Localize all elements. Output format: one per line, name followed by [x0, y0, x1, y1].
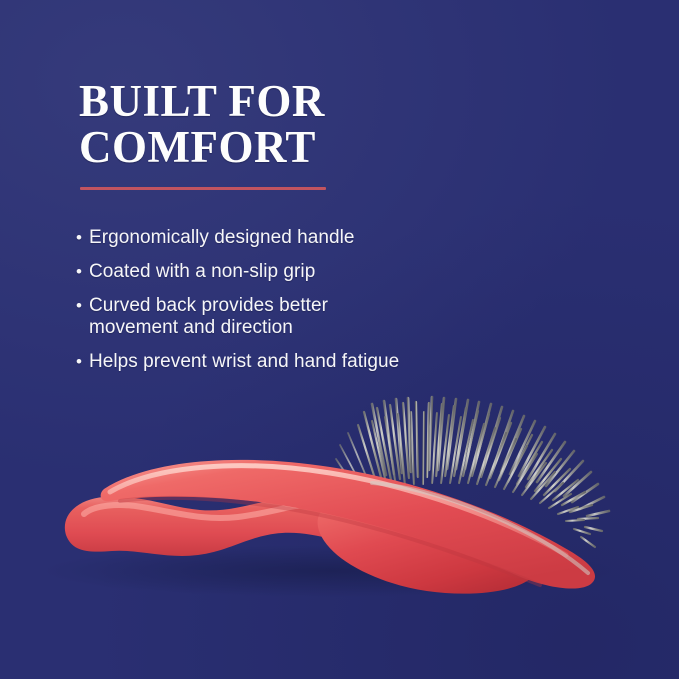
list-item: • Coated with a non-slip grip — [76, 261, 496, 283]
page-title-line-2: COMFORT — [79, 124, 499, 170]
list-item-label: Curved back provides better movement and… — [89, 295, 496, 339]
title-divider-rule — [80, 187, 326, 190]
list-item: • Ergonomically designed handle — [76, 227, 496, 249]
bullet-dot-icon: • — [76, 227, 89, 249]
list-item-label-line-2: movement and direction — [89, 317, 496, 339]
list-item-label-line-1: Curved back provides better — [89, 295, 328, 316]
list-item-label: Coated with a non-slip grip — [89, 261, 496, 283]
page-title: BUILT FOR COMFORT — [79, 78, 499, 170]
bullet-dot-icon: • — [76, 295, 89, 317]
product-image-grooming-brush — [0, 355, 679, 635]
bullet-dot-icon: • — [76, 261, 89, 283]
product-feature-graphic: BUILT FOR COMFORT • Ergonomically design… — [0, 0, 679, 679]
list-item: • Curved back provides better movement a… — [76, 295, 496, 339]
page-title-line-1: BUILT FOR — [79, 78, 499, 124]
list-item-label: Ergonomically designed handle — [89, 227, 496, 249]
product-illustration — [0, 355, 679, 635]
